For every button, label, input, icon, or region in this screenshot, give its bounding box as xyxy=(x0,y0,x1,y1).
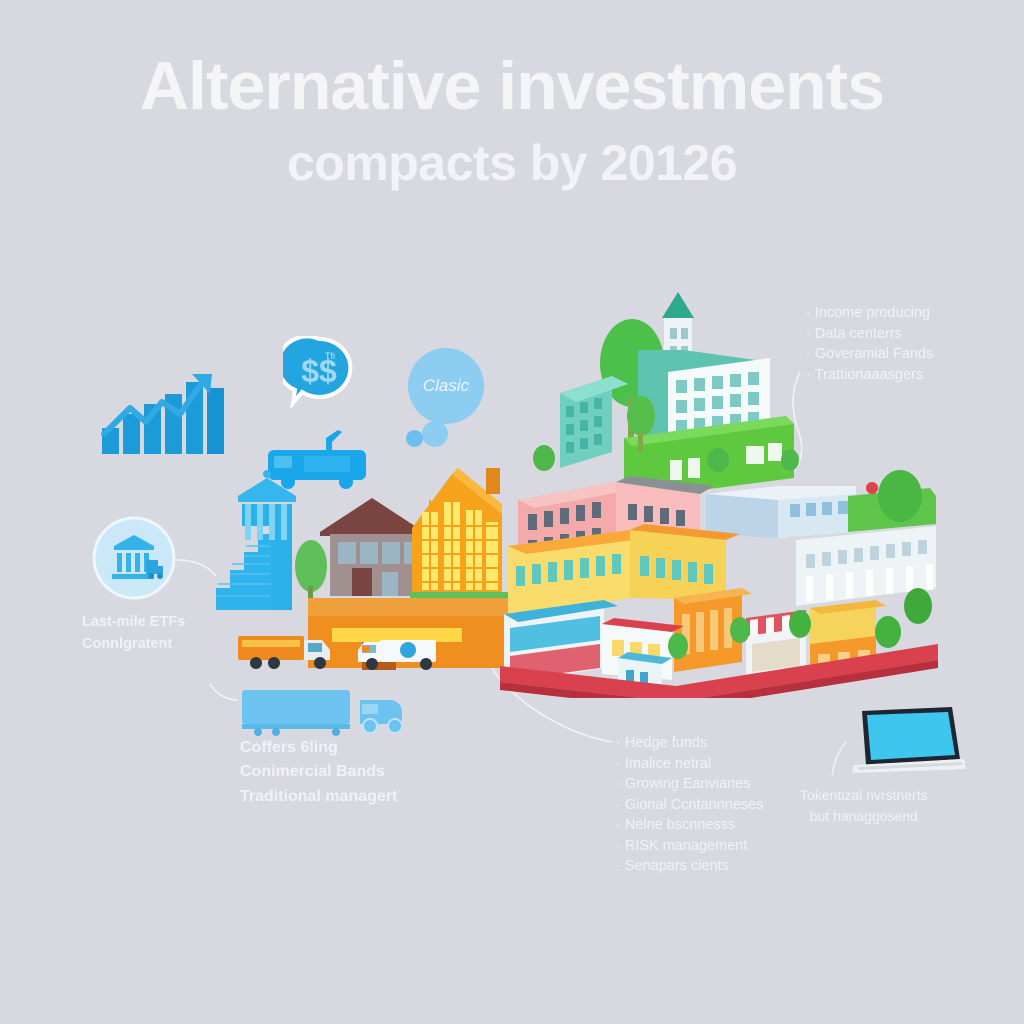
last-mile-etfs-list: Last-mile ETFs Connlgratent xyxy=(82,612,185,656)
list-item: Tokentizal nvrstnerts xyxy=(800,785,928,806)
logistics-warehouse xyxy=(212,440,522,680)
list-item: Trattionaaasgers xyxy=(806,365,933,386)
list-item: Coffers 6ling xyxy=(240,736,397,760)
list-item: Goveramial Fands xyxy=(806,344,933,365)
truck-trailer-icon xyxy=(240,686,410,742)
thought-bubble-icon: Clasic xyxy=(400,348,484,452)
thought-bubble-text: Clasic xyxy=(423,376,469,396)
list-item: RISK management xyxy=(616,836,764,857)
income-producing-list: Income producing Data centerrs Goveramia… xyxy=(806,303,933,385)
infographic-canvas: Alternative investments compacts by 2012… xyxy=(0,0,1024,1024)
hedge-funds-list: Hedge funds Imalice netral Growing Eanvi… xyxy=(616,733,764,877)
orange-truck xyxy=(238,636,330,669)
money-speech-bubble-icon: $$ Tfi xyxy=(283,336,355,408)
thought-bubble-main: Clasic xyxy=(408,348,484,424)
list-item: Last-mile ETFs xyxy=(82,612,185,634)
laptop-icon xyxy=(848,703,968,783)
tokenized-investments-list: Tokentizal nvrstnerts but hanaggosend xyxy=(800,785,928,827)
list-item: Hedge funds xyxy=(616,733,764,754)
list-item: Data centerrs xyxy=(806,324,933,345)
list-item: Imalice netral xyxy=(616,754,764,775)
list-item: Conimercial Bands xyxy=(240,760,397,784)
title-line-1: Alternative investments xyxy=(0,52,1024,120)
list-item: Senapars cients xyxy=(616,856,764,877)
list-item: Growing Eanvianes xyxy=(616,774,764,795)
list-item: Income producing xyxy=(806,303,933,324)
list-item: Nelne bscnnesss xyxy=(616,815,764,836)
bar-chart-icon xyxy=(100,372,228,454)
list-item: Connlgratent xyxy=(82,634,185,656)
stepped-bank-icon xyxy=(216,470,296,610)
bank-building-icon xyxy=(92,516,176,600)
bubble-superscript: Tfi xyxy=(325,351,335,361)
list-item: but hanaggosend xyxy=(800,806,928,827)
list-item: Gional Ccntannneses xyxy=(616,795,764,816)
page-title: Alternative investments compacts by 2012… xyxy=(0,52,1024,188)
list-item: Traditional managert xyxy=(240,785,397,809)
title-line-2: compacts by 20126 xyxy=(0,138,1024,188)
coffers-list: Coffers 6ling Conimercial Bands Traditio… xyxy=(240,736,397,809)
